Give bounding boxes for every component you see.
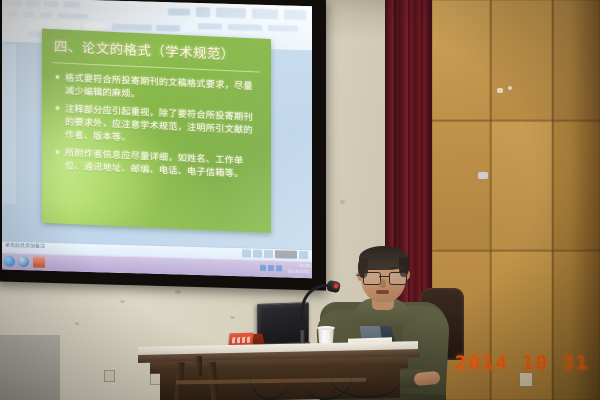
camera-datestamp: 2014 10 31 <box>455 352 589 374</box>
view-slideshow-button[interactable] <box>264 250 273 258</box>
name-card-text <box>232 337 252 344</box>
wood-shadow-right <box>570 0 600 400</box>
wood-mark <box>508 86 512 90</box>
photograph-lecture-scene: 四、论文的格式（学术规范） 格式要符合所投寄期刊的文稿格式要求，尽量减少编辑的麻… <box>0 0 600 400</box>
powerpoint-window: 四、论文的格式（学术规范） 格式要符合所投寄期刊的文稿格式要求，尽量减少编辑的麻… <box>2 0 312 278</box>
eyeglasses-lens-right <box>389 272 407 285</box>
wall-stain <box>340 200 345 204</box>
zoom-slider[interactable] <box>275 250 297 259</box>
powerpoint-icon[interactable] <box>33 256 45 267</box>
slide-title: 四、论文的格式（学术规范） <box>54 40 259 64</box>
wood-tile <box>432 0 490 120</box>
wood-mark <box>497 88 503 93</box>
wood-tile <box>432 120 490 250</box>
wood-label <box>478 172 488 179</box>
wood-seam <box>490 0 492 400</box>
wall-stain <box>230 316 235 319</box>
eyeglasses-lens-left <box>363 272 381 285</box>
view-normal-button[interactable] <box>242 249 251 257</box>
wall-stain <box>75 322 79 325</box>
tray-icon[interactable] <box>268 265 274 271</box>
fit-slide-button[interactable] <box>299 251 308 259</box>
wall-panel-grey <box>0 335 60 400</box>
desk-leg-center <box>196 356 202 376</box>
slide-bullet: 注释部分应引起重视，除了要符合所投寄期刊的要求外，应注意学术规范，注明所引文献的… <box>56 103 261 150</box>
slide-bullet: 所附作者信息应尽量详细，如姓名、工作单位、通讯地址、邮编、电话、电子信箱等。 <box>56 147 261 182</box>
wall-outlet <box>104 370 115 382</box>
notes-placeholder[interactable]: 单击此处添加备注 <box>5 242 45 250</box>
wood-tile <box>490 0 552 120</box>
view-sorter-button[interactable] <box>253 250 262 258</box>
speaker-mouth <box>376 290 389 294</box>
projection-screen: 四、论文的格式（学术规范） 格式要符合所投寄期刊的文稿格式要求，尽量减少编辑的麻… <box>0 0 326 291</box>
tray-icon[interactable] <box>276 265 282 271</box>
taskbar-clock[interactable]: 16:29 2014/10/31 <box>287 263 310 276</box>
slide-thumbnail-pane[interactable] <box>2 44 16 204</box>
speaker-nose <box>380 279 386 288</box>
slide-bullet: 格式要符合所投寄期刊的文稿格式要求，尽量减少编辑的麻烦。 <box>56 71 261 106</box>
internet-explorer-icon[interactable] <box>18 256 29 267</box>
speaker-eyebrow <box>364 268 378 270</box>
microphone-indicator-light <box>334 284 338 288</box>
wall-outlet-wood <box>519 372 533 387</box>
title-underline <box>52 62 260 72</box>
clock-date: 2014/10/31 <box>287 269 310 276</box>
wood-seam <box>552 0 554 400</box>
eyeglasses-bridge <box>379 276 389 277</box>
wall-stain <box>120 300 125 303</box>
wood-tile <box>490 120 552 250</box>
start-orb-icon[interactable] <box>4 256 15 267</box>
tray-icon[interactable] <box>260 265 266 271</box>
speaker-eyebrow <box>390 267 404 269</box>
presentation-slide: 四、论文的格式（学术规范） 格式要符合所投寄期刊的文稿格式要求，尽量减少编辑的麻… <box>42 29 271 233</box>
view-buttons[interactable] <box>242 249 308 259</box>
slide-body: 格式要符合所投寄期刊的文稿格式要求，尽量减少编辑的麻烦。 注释部分应引起重视，除… <box>56 71 261 187</box>
paper-cup-rim <box>317 326 335 330</box>
wall-stain <box>175 290 181 294</box>
system-tray-icons[interactable] <box>260 265 282 272</box>
projected-image: 四、论文的格式（学术规范） 格式要符合所投寄期刊的文稿格式要求，尽量减少编辑的麻… <box>2 0 312 278</box>
